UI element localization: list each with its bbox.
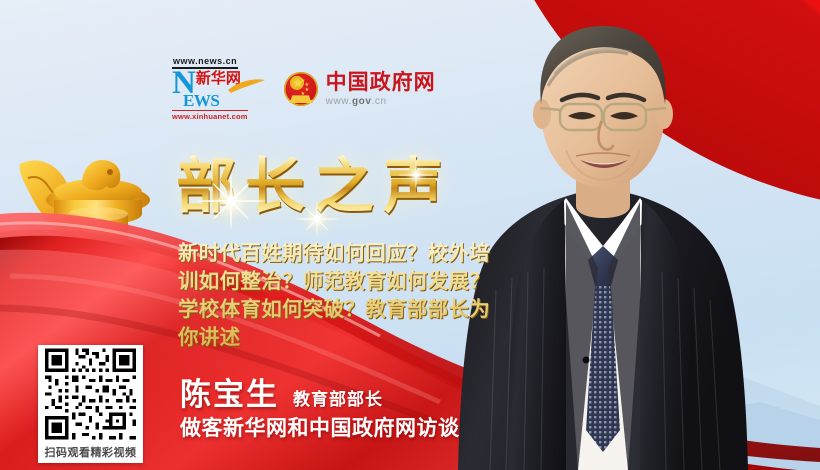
gov-url: www.gov.cn [326, 96, 436, 107]
gov-url-main: gov [352, 96, 372, 107]
logo-bar: www.news.cn N 新华网 EWS www.xinhuanet.com … [172, 56, 436, 121]
minister-portrait [438, 0, 768, 470]
page-title: 部长之声 [176, 154, 452, 220]
gov-url-suffix: .cn [372, 96, 387, 107]
person-info: 陈宝生 教育部部长 做客新华网和中国政府网访谈 [180, 378, 460, 442]
gov-cn-name: 中国政府网 [326, 71, 436, 94]
qr-code-block[interactable]: 扫码观看精彩视频 [38, 345, 143, 463]
xinhua-letter-n: N [172, 70, 195, 97]
xinhua-swoosh-icon [227, 75, 267, 95]
china-gov-logo[interactable]: ★★ ★★ ★ 中国政府网 www.gov.cn [284, 71, 436, 107]
gov-url-prefix: www. [326, 96, 352, 107]
person-role: 教育部部长 [293, 390, 383, 410]
hero-description: 新时代百姓期待如何回应？校外培训如何整治？师范教育如何发展？学校体育如何突破？教… [178, 240, 496, 352]
xinhua-net-logo[interactable]: www.news.cn N 新华网 EWS www.xinhuanet.com [172, 56, 248, 121]
person-name: 陈宝生 [180, 378, 279, 412]
poster-canvas: www.news.cn N 新华网 EWS www.xinhuanet.com … [0, 0, 820, 470]
national-emblem-icon: ★★ ★★ ★ [284, 72, 318, 106]
xinhua-url-bottom: www.xinhuanet.com [172, 110, 248, 121]
qr-code[interactable] [38, 345, 143, 443]
person-subtitle: 做客新华网和中国政府网访谈 [180, 416, 460, 442]
qr-caption: 扫码观看精彩视频 [38, 443, 143, 463]
